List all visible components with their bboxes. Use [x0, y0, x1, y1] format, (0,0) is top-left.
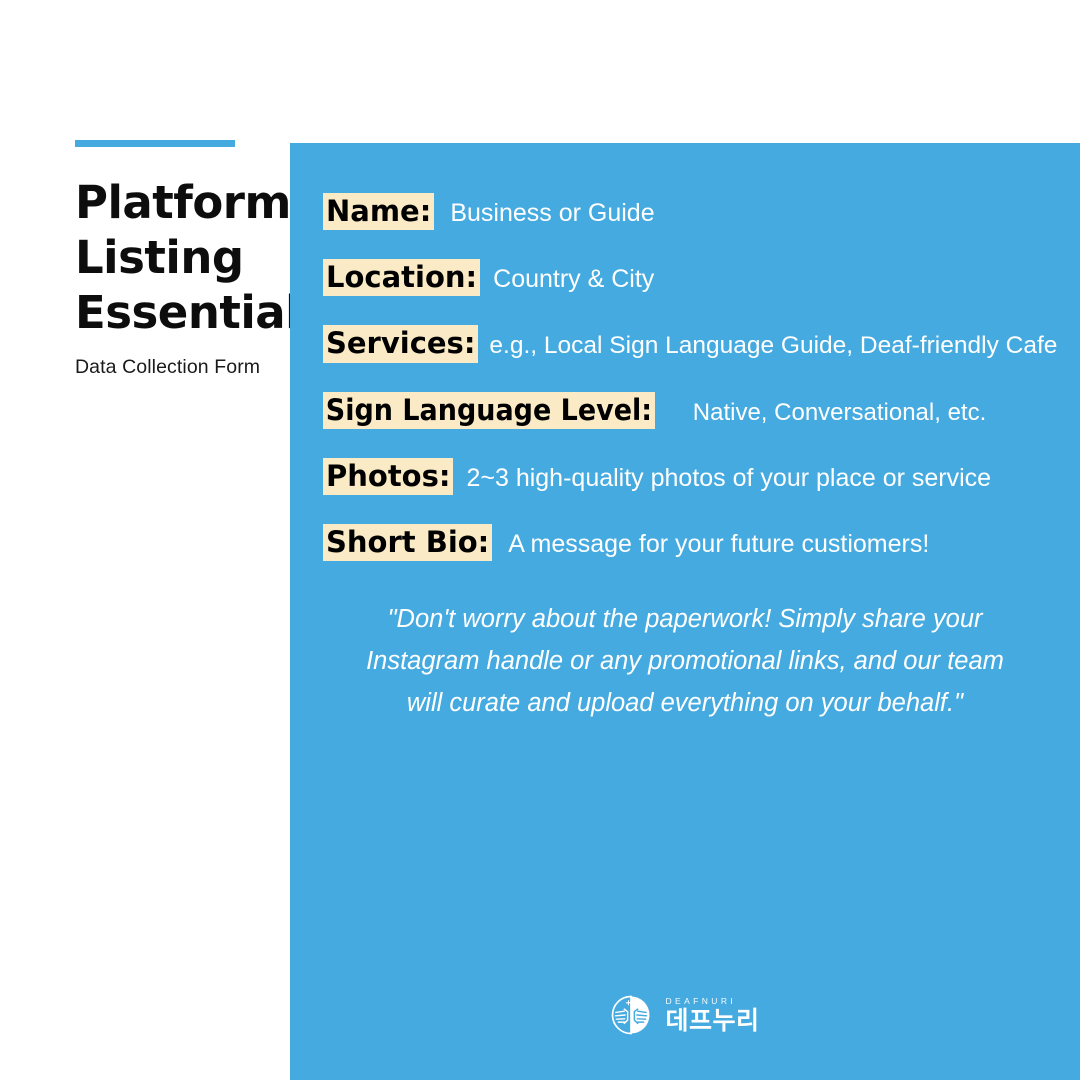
field-row-photos: Photos: 2~3 high-quality photos of your …	[323, 458, 1062, 495]
note-quote-line-2: Instagram handle or any promotional link…	[342, 640, 1028, 682]
content-panel: Name: Business or Guide Location: Countr…	[290, 143, 1080, 1080]
field-label-short-bio: Short Bio:	[323, 524, 492, 561]
poster-canvas: Platform Listing Essentials Data Collect…	[0, 0, 1080, 1080]
field-label-services: Services:	[323, 325, 478, 362]
header-column: Platform Listing Essentials Data Collect…	[75, 140, 290, 379]
field-value-photos: 2~3 high-quality photos of your place or…	[466, 463, 991, 493]
field-row-sign-language-level: Sign Language Level: Native, Conversatio…	[323, 392, 1062, 429]
page-title-line-3: Essentials	[75, 286, 326, 339]
page-title-line-1: Platform	[75, 176, 291, 229]
field-value-services: e.g., Local Sign Language Guide, Deaf-fr…	[489, 331, 1057, 360]
field-value-name: Business or Guide	[450, 198, 654, 228]
field-label-photos: Photos:	[323, 458, 453, 495]
page-title-line-2: Listing	[75, 231, 244, 284]
brand-name-korean: 데프누리	[665, 1008, 759, 1033]
note-quote-line-3: will curate and upload everything on you…	[342, 682, 1028, 724]
page-subtitle: Data Collection Form	[75, 356, 290, 379]
form-field-list: Name: Business or Guide Location: Countr…	[323, 193, 1062, 590]
brand-name-english: DEAFNURI	[665, 997, 736, 1006]
field-row-location: Location: Country & City	[323, 259, 1062, 296]
field-label-location: Location:	[323, 259, 480, 296]
field-value-location: Country & City	[493, 264, 654, 294]
note-quote-line-1: "Don't worry about the paperwork! Simply…	[342, 598, 1028, 640]
field-row-services: Services: e.g., Local Sign Language Guid…	[323, 325, 1062, 362]
field-value-sign-language-level: Native, Conversational, etc.	[693, 399, 986, 428]
deafnuri-circle-hands-emblem-icon	[610, 994, 652, 1036]
field-label-name: Name:	[323, 193, 434, 230]
field-row-short-bio: Short Bio: A message for your future cus…	[323, 524, 1062, 561]
accent-bar	[75, 140, 235, 147]
field-value-short-bio: A message for your future custiomers!	[508, 529, 929, 559]
field-label-sign-language-level: Sign Language Level:	[323, 392, 655, 429]
brand-logo-text: DEAFNURI 데프누리	[665, 997, 759, 1034]
brand-logo: DEAFNURI 데프누리	[290, 994, 1080, 1036]
note-quote: "Don't worry about the paperwork! Simply…	[342, 598, 1028, 724]
page-title: Platform Listing Essentials	[75, 175, 290, 340]
field-row-name: Name: Business or Guide	[323, 193, 1062, 230]
